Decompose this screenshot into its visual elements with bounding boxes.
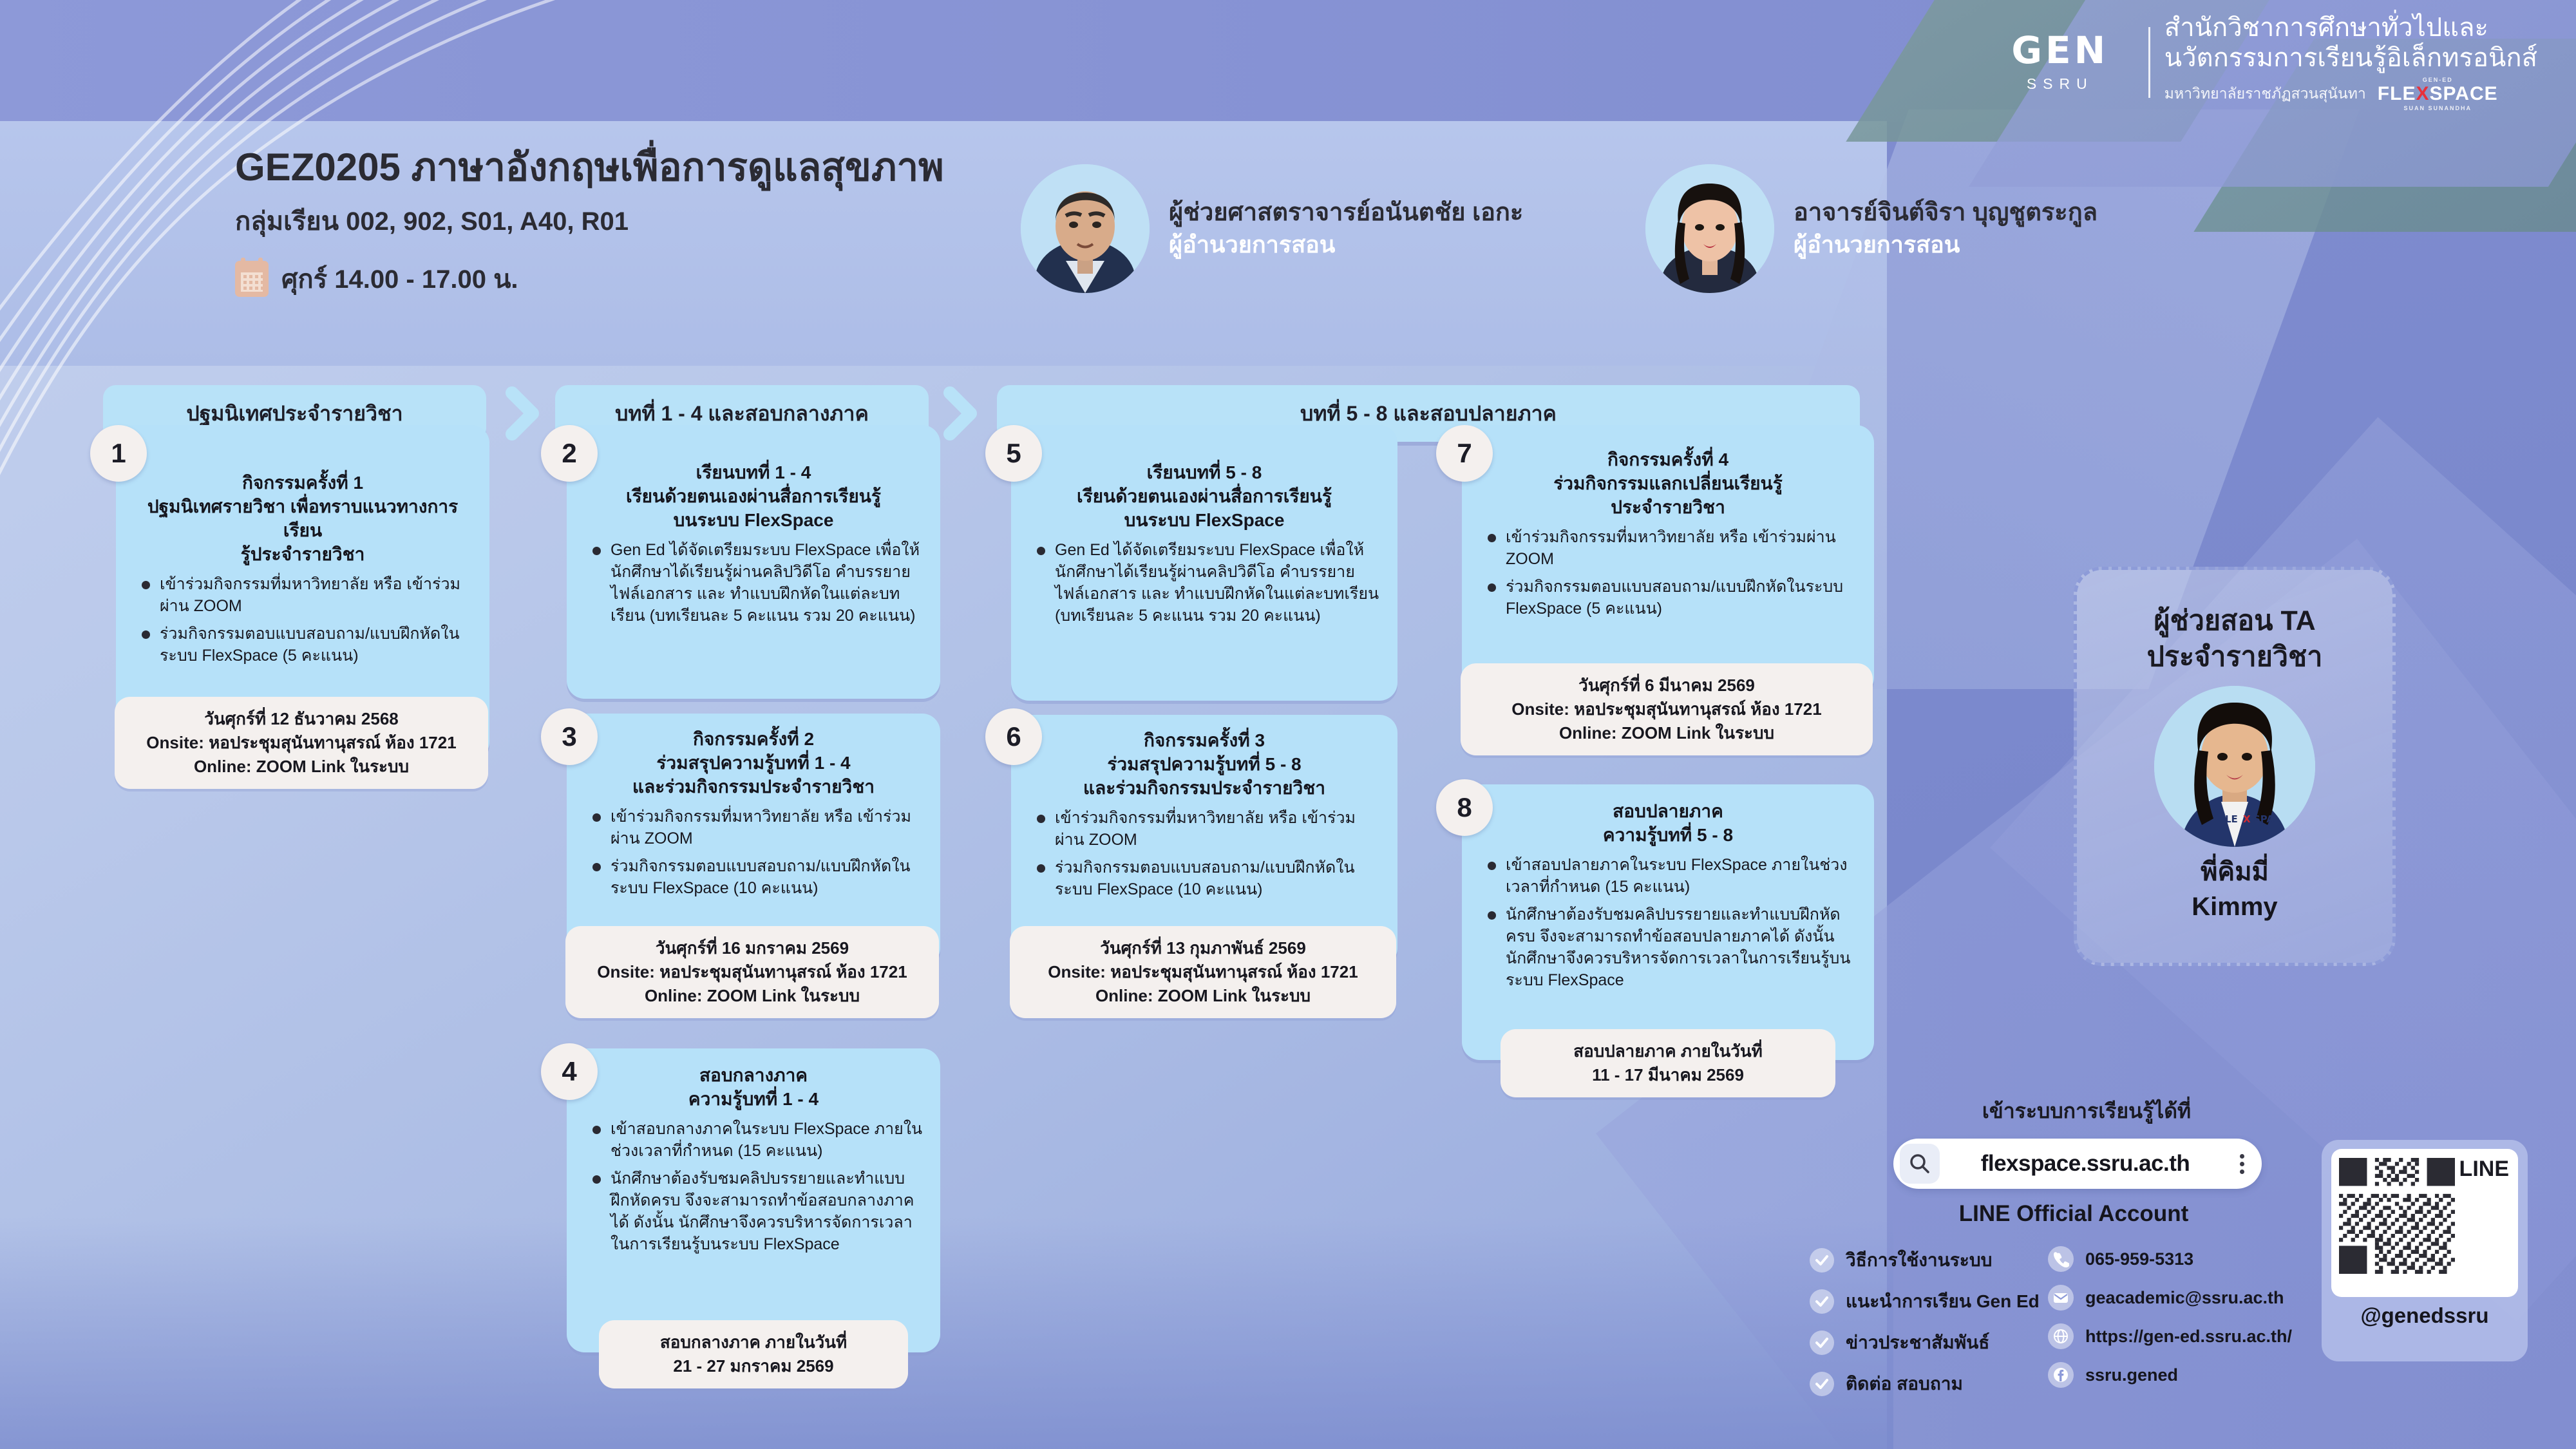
svg-text:SPA: SPA: [2253, 813, 2274, 825]
more-vertical-icon[interactable]: [2231, 1154, 2253, 1174]
step-3-datebox: วันศุกร์ที่ 16 มกราคม 2569 Onsite: หอประ…: [565, 926, 939, 1018]
step-4-title: สอบกลางภาค ความรู้บทที่ 1 - 4: [583, 1064, 923, 1112]
step-6-bullets: เข้าร่วมกิจกรรมที่มหาวิทยาลัย หรือ เข้าร…: [1028, 807, 1381, 900]
mail-icon: [2048, 1285, 2074, 1311]
ta-name-th: พี่คิมมี่: [2077, 855, 2392, 889]
step-3-date-line-2: Onsite: หอประชุมสุนันทานุสรณ์ ห้อง 1721: [577, 960, 927, 984]
step-badge-7: 7: [1436, 425, 1493, 482]
chevron-right-icon-1: [499, 386, 551, 440]
ta-name-en: Kimmy: [2077, 889, 2392, 924]
step-1-date-line-1: วันศุกร์ที่ 12 ธันวาคม 2568: [126, 707, 477, 731]
list-item: ร่วมกิจกรรมตอบแบบสอบถาม/แบบฝึกหัดในระบบ …: [583, 855, 923, 899]
step-1-title: กิจกรรมครั้งที่ 1 ปฐมนิเทศรายวิชา เพื่อท…: [133, 471, 473, 567]
step-8-datebox: สอบปลายภาค ภายในวันที่ 11 - 17 มีนาคม 25…: [1501, 1029, 1835, 1097]
contact-phone-row[interactable]: 065-959-5313: [2048, 1246, 2292, 1272]
step-badge-6: 6: [985, 708, 1042, 765]
step-badge-3: 3: [541, 708, 598, 765]
logo-divider: [2148, 27, 2150, 98]
flexspace-url-text[interactable]: flexspace.ssru.ac.th: [1940, 1151, 2231, 1177]
check-icon: [1810, 1331, 1834, 1355]
step-6-date-line-1: วันศุกร์ที่ 13 กุมภาพันธ์ 2569: [1021, 936, 1385, 960]
step-card-8[interactable]: สอบปลายภาค ความรู้บทที่ 5 - 8 เข้าสอบปลา…: [1462, 784, 1874, 1060]
line-qr-card[interactable]: LINE: [2322, 1140, 2528, 1361]
gened-logo-mark: GEN SSRU: [1986, 32, 2134, 93]
list-item: ร่วมกิจกรรมตอบแบบสอบถาม/แบบฝึกหัดในระบบ …: [133, 623, 473, 667]
step-badge-2: 2: [541, 425, 598, 482]
step-1-datebox: วันศุกร์ที่ 12 ธันวาคม 2568 Onsite: หอปร…: [115, 697, 488, 789]
bg-bottom-shade: [0, 1217, 1893, 1449]
list-item: วิธีการใช้งานระบบ: [1810, 1246, 2040, 1274]
step-4-date-line-2: 21 - 27 มกราคม 2569: [611, 1354, 896, 1378]
step-4-bullets: เข้าสอบกลางภาคในระบบ FlexSpace ภายในช่วง…: [583, 1118, 923, 1255]
contact-info-list: 065-959-5313 geacademic@ssru.ac.th https…: [2048, 1246, 2292, 1401]
list-item: เข้าร่วมกิจกรรมที่มหาวิทยาลัย หรือ เข้าร…: [583, 806, 923, 849]
line-feature-label: ติดต่อ สอบถาม: [1846, 1370, 1963, 1398]
step-1-date-line-3: Online: ZOOM Link ในระบบ: [126, 755, 477, 779]
calendar-icon: [235, 261, 269, 297]
step-card-2[interactable]: เรียนบทที่ 1 - 4 เรียนด้วยตนเองผ่านสื่อก…: [567, 425, 940, 699]
step-badge-8: 8: [1436, 779, 1493, 836]
step-card-7[interactable]: กิจกรรมครั้งที่ 4 ร่วมกิจกรรมแลกเปลี่ยนเ…: [1462, 425, 1874, 696]
ta-panel-title: ผู้ช่วยสอน TA ประจำรายวิชา: [2077, 603, 2392, 676]
ssru-wordmark: SSRU: [2027, 75, 2094, 93]
course-schedule-row: ศุกร์ 14.00 - 17.00 น.: [235, 258, 944, 299]
step-5-bullets: Gen Ed ได้จัดเตรียมระบบ FlexSpace เพื่อใ…: [1028, 539, 1381, 627]
step-card-4[interactable]: สอบกลางภาค ความรู้บทที่ 1 - 4 เข้าสอบกลา…: [567, 1048, 940, 1352]
step-1-bullets: เข้าร่วมกิจกรรมที่มหาวิทยาลัย หรือ เข้าร…: [133, 573, 473, 667]
step-7-date-line-2: Onsite: หอประชุมสุนันทานุสรณ์ ห้อง 1721: [1472, 697, 1861, 721]
flexspace-tiny-bottom: SUAN SUNANDHA: [2378, 105, 2498, 111]
instructor-2-name: อาจารย์จินต์จิรา บุญชูตระกูล: [1794, 196, 2098, 229]
gened-wordmark: GEN: [2011, 32, 2108, 69]
list-item: เข้าร่วมกิจกรรมที่มหาวิทยาลัย หรือ เข้าร…: [1028, 807, 1381, 851]
list-item: เข้าสอบปลายภาคในระบบ FlexSpace ภายในช่วง…: [1479, 854, 1857, 898]
list-item: แนะนำการเรียน Gen Ed: [1810, 1287, 2040, 1316]
list-item: เข้าร่วมกิจกรรมที่มหาวิทยาลัย หรือ เข้าร…: [1479, 526, 1857, 570]
line-feature-label: วิธีการใช้งานระบบ: [1846, 1246, 1992, 1274]
step-6-date-line-3: Online: ZOOM Link ในระบบ: [1021, 984, 1385, 1008]
line-feature-label: แนะนำการเรียน Gen Ed: [1846, 1287, 2040, 1316]
course-heading-block: GEZ0205 ภาษาอังกฤษเพื่อการดูแลสุขภาพ กลุ…: [235, 143, 944, 299]
list-item: เข้าสอบกลางภาคในระบบ FlexSpace ภายในช่วง…: [583, 1118, 923, 1162]
step-6-datebox: วันศุกร์ที่ 13 กุมภาพันธ์ 2569 Onsite: ห…: [1010, 926, 1396, 1018]
list-item: Gen Ed ได้จัดเตรียมระบบ FlexSpace เพื่อใ…: [583, 539, 923, 627]
step-7-title: กิจกรรมครั้งที่ 4 ร่วมกิจกรรมแลกเปลี่ยนเ…: [1479, 448, 1857, 520]
globe-icon: [2048, 1323, 2074, 1349]
url-search-bar[interactable]: flexspace.ssru.ac.th: [1893, 1139, 2262, 1189]
step-5-title: เรียนบทที่ 5 - 8 เรียนด้วยตนเองผ่านสื่อก…: [1028, 461, 1381, 533]
step-8-date-line-2: 11 - 17 มีนาคม 2569: [1512, 1063, 1824, 1087]
instructor-2-role: ผู้อำนวยการสอน: [1794, 229, 2098, 261]
contact-website-text: https://gen-ed.ssru.ac.th/: [2085, 1327, 2292, 1347]
step-2-bullets: Gen Ed ได้จัดเตรียมระบบ FlexSpace เพื่อใ…: [583, 539, 923, 627]
instructor-1-avatar: [1021, 164, 1150, 293]
check-icon: [1810, 1372, 1834, 1396]
course-time-text: ศุกร์ 14.00 - 17.00 น.: [281, 258, 518, 299]
step-3-date-line-3: Online: ZOOM Link ในระบบ: [577, 984, 927, 1008]
line-features-list: วิธีการใช้งานระบบ แนะนำการเรียน Gen Ed ข…: [1810, 1246, 2040, 1411]
flexspace-post: SPACE: [2429, 83, 2497, 104]
flexspace-tiny-top: GEN-ED: [2378, 77, 2498, 83]
step-2-title: เรียนบทที่ 1 - 4 เรียนด้วยตนเองผ่านสื่อก…: [583, 461, 923, 533]
list-item: ร่วมกิจกรรมตอบแบบสอบถาม/แบบฝึกหัดในระบบ …: [1479, 576, 1857, 620]
check-icon: [1810, 1248, 1834, 1273]
list-item: นักศึกษาต้องรับชมคลิปบรรยายและทำแบบฝึกหั…: [583, 1168, 923, 1255]
contact-email-text: geacademic@ssru.ac.th: [2085, 1288, 2284, 1308]
list-item: ติดต่อ สอบถาม: [1810, 1370, 2040, 1398]
contact-website-row[interactable]: https://gen-ed.ssru.ac.th/: [2048, 1323, 2292, 1349]
instructor-2: อาจารย์จินต์จิรา บุญชูตระกูล ผู้อำนวยการ…: [1645, 164, 2098, 293]
svg-text:X: X: [2243, 813, 2251, 825]
step-7-date-line-3: Online: ZOOM Link ในระบบ: [1472, 721, 1861, 745]
line-feature-label: ข่าวประชาสัมพันธ์: [1846, 1329, 1989, 1357]
step-6-date-line-2: Onsite: หอประชุมสุนันทานุสรณ์ ห้อง 1721: [1021, 960, 1385, 984]
qr-code-image[interactable]: LINE: [2331, 1149, 2518, 1297]
instructor-1-name: ผู้ช่วยศาสตราจารย์อนันตชัย เอกะ: [1169, 196, 1523, 229]
org-name-line1: สำนักวิชาการศึกษาทั่วไปและ: [2164, 13, 2537, 43]
step-7-date-line-1: วันศุกร์ที่ 6 มีนาคม 2569: [1472, 674, 1861, 697]
ta-name-block: พี่คิมมี่ Kimmy: [2077, 855, 2392, 924]
line-official-account-title: LINE Official Account: [1893, 1201, 2254, 1227]
chevron-right-icon-2: [937, 386, 989, 440]
step-7-datebox: วันศุกร์ที่ 6 มีนาคม 2569 Onsite: หอประช…: [1461, 663, 1873, 755]
qr-line-brand: LINE: [2459, 1157, 2509, 1182]
course-group-line: กลุ่มเรียน 002, 902, S01, A40, R01: [235, 200, 944, 241]
flexspace-pre: FLE: [2378, 83, 2416, 104]
qr-matrix: [2339, 1158, 2455, 1274]
facebook-icon: [2048, 1362, 2074, 1388]
university-name: มหาวิทยาลัยราชภัฏสวนสุนันทา: [2164, 82, 2366, 106]
page-title: GEZ0205 ภาษาอังกฤษเพื่อการดูแลสุขภาพ: [235, 143, 944, 191]
org-name-line3-row: มหาวิทยาลัยราชภัฏสวนสุนันทา GEN-ED FLEXS…: [2164, 77, 2537, 111]
list-item: Gen Ed ได้จัดเตรียมระบบ FlexSpace เพื่อใ…: [1028, 539, 1381, 627]
svg-text:LE: LE: [2225, 813, 2238, 825]
list-item: เข้าร่วมกิจกรรมที่มหาวิทยาลัย หรือ เข้าร…: [133, 573, 473, 617]
step-badge-5: 5: [985, 425, 1042, 482]
step-8-title: สอบปลายภาค ความรู้บทที่ 5 - 8: [1479, 800, 1857, 848]
instructor-2-avatar: [1645, 164, 1774, 293]
list-item: นักศึกษาต้องรับชมคลิปบรรยายและทำแบบฝึกหั…: [1479, 904, 1857, 991]
step-badge-4: 4: [541, 1043, 598, 1100]
step-7-bullets: เข้าร่วมกิจกรรมที่มหาวิทยาลัย หรือ เข้าร…: [1479, 526, 1857, 620]
step-3-title: กิจกรรมครั้งที่ 2 ร่วมสรุปความรู้บทที่ 1…: [583, 728, 923, 799]
search-icon[interactable]: [1900, 1144, 1940, 1184]
contact-email-row[interactable]: geacademic@ssru.ac.th: [2048, 1285, 2292, 1311]
step-card-5[interactable]: เรียนบทที่ 5 - 8 เรียนด้วยตนเองผ่านสื่อก…: [1011, 425, 1397, 701]
flexspace-x: X: [2416, 83, 2429, 104]
ta-title-line2: ประจำรายวิชา: [2077, 639, 2392, 676]
contact-facebook-text: ssru.gened: [2085, 1365, 2178, 1385]
step-3-date-line-1: วันศุกร์ที่ 16 มกราคม 2569: [577, 936, 927, 960]
ta-title-line1: ผู้ช่วยสอน TA: [2077, 603, 2392, 639]
line-handle-text: @genedssru: [2360, 1303, 2488, 1328]
check-icon: [1810, 1289, 1834, 1314]
step-3-bullets: เข้าร่วมกิจกรรมที่มหาวิทยาลัย หรือ เข้าร…: [583, 806, 923, 899]
contact-facebook-row[interactable]: ssru.gened: [2048, 1362, 2292, 1388]
org-logo-header: GEN SSRU สำนักวิชาการศึกษาทั่วไปและ นวัต…: [1986, 13, 2537, 111]
step-1-date-line-2: Onsite: หอประชุมสุนันทานุสรณ์ ห้อง 1721: [126, 731, 477, 755]
step-6-title: กิจกรรมครั้งที่ 3 ร่วมสรุปความรู้บทที่ 5…: [1028, 729, 1381, 800]
org-name-block: สำนักวิชาการศึกษาทั่วไปและ นวัตกรรมการเร…: [2164, 13, 2537, 111]
step-4-date-line-1: สอบกลางภาค ภายในวันที่: [611, 1331, 896, 1354]
list-item: ร่วมกิจกรรมตอบแบบสอบถาม/แบบฝึกหัดในระบบ …: [1028, 857, 1381, 900]
step-4-datebox: สอบกลางภาค ภายในวันที่ 21 - 27 มกราคม 25…: [599, 1320, 908, 1388]
flexspace-logo: GEN-ED FLEXSPACE SUAN SUNANDHA: [2378, 77, 2498, 111]
enter-system-label: เข้าระบบการเรียนรู้ได้ที่: [1932, 1095, 2241, 1128]
instructor-1-role: ผู้อำนวยการสอน: [1169, 229, 1523, 261]
contact-phone-text: 065-959-5313: [2085, 1249, 2193, 1269]
phone-icon: [2048, 1246, 2074, 1272]
list-item: ข่าวประชาสัมพันธ์: [1810, 1329, 2040, 1357]
ta-avatar: LEXSPA: [2154, 686, 2315, 847]
org-name-line2: นวัตกรรมการเรียนรู้อิเล็กทรอนิกส์: [2164, 43, 2537, 73]
ta-panel: ผู้ช่วยสอน TA ประจำรายวิชา LEXSPA พี่คิม…: [2074, 567, 2396, 966]
step-8-bullets: เข้าสอบปลายภาคในระบบ FlexSpace ภายในช่วง…: [1479, 854, 1857, 991]
step-badge-1: 1: [90, 425, 147, 482]
instructor-1: ผู้ช่วยศาสตราจารย์อนันตชัย เอกะ ผู้อำนวย…: [1021, 164, 1523, 293]
step-8-date-line-1: สอบปลายภาค ภายในวันที่: [1512, 1039, 1824, 1063]
